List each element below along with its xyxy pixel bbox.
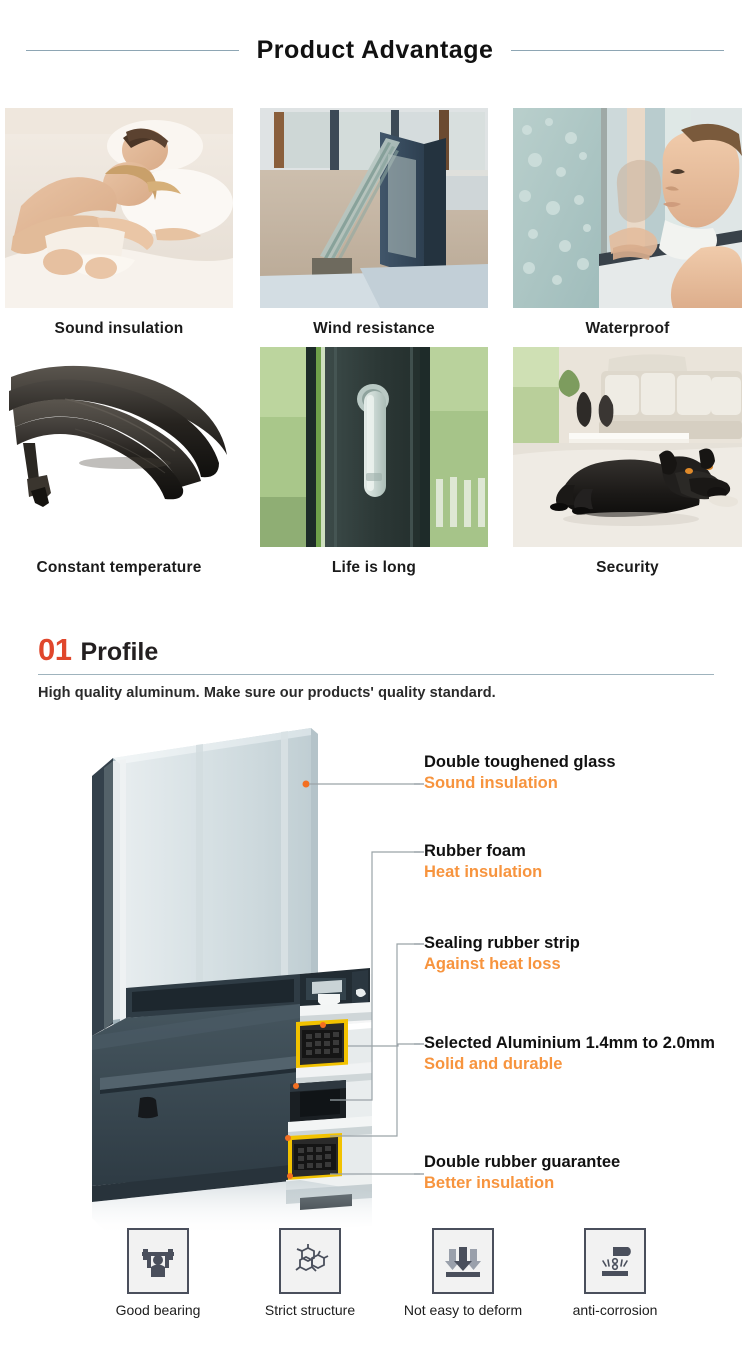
couple-sleeping-photo [5, 108, 233, 308]
advantage-card-constant-temperature[interactable]: Constant temperature [5, 347, 233, 577]
profile-divider [38, 674, 714, 675]
advantage-label: Wind resistance [260, 320, 488, 338]
callout-double-toughened-glass: Double toughened glass Sound insulation [424, 752, 616, 794]
window-handle-photo [260, 347, 488, 547]
rubber-seal-strip-photo [5, 347, 233, 547]
page-title: Product Advantage [239, 38, 512, 63]
advantage-label: Security [513, 559, 742, 577]
callout-rubber-foam: Rubber foam Heat insulation [424, 841, 542, 883]
feature-icon-row: Good bearing Strict structure [0, 1228, 750, 1328]
callout-title: Rubber foam [424, 841, 542, 862]
callout-subtitle: Solid and durable [424, 1054, 715, 1075]
feature-strict-structure[interactable]: Strict structure [240, 1228, 380, 1318]
advantage-card-security[interactable]: Security [513, 347, 742, 577]
black-dog-in-livingroom-photo [513, 347, 742, 547]
window-profile-diagram [0, 706, 750, 1236]
section-header: Product Advantage [0, 38, 750, 63]
corrosion-spray-icon [584, 1228, 646, 1294]
callout-subtitle: Against heat loss [424, 954, 580, 975]
advantage-label: Constant temperature [5, 559, 233, 577]
profile-subtitle: High quality aluminum. Make sure our pro… [38, 685, 714, 701]
feature-good-bearing[interactable]: Good bearing [88, 1228, 228, 1318]
callout-subtitle: Sound insulation [424, 773, 616, 794]
callout-title: Sealing rubber strip [424, 933, 580, 954]
callout-marker-dot [303, 781, 310, 788]
advantage-card-life-is-long[interactable]: Life is long [260, 347, 488, 577]
down-arrows-press-icon [432, 1228, 494, 1294]
child-at-rainy-window-photo [513, 108, 742, 308]
feature-not-easy-to-deform[interactable]: Not easy to deform [393, 1228, 533, 1318]
feature-label: anti-corrosion [545, 1302, 685, 1318]
advantage-grid: Sound insulation [0, 108, 750, 586]
advantage-label: Waterproof [513, 320, 742, 338]
product-advantage-page: Product Advantage [0, 0, 750, 1346]
callout-selected-aluminium: Selected Aluminium 1.4mm to 2.0mm Solid … [424, 1033, 715, 1075]
callout-title: Double rubber guarantee [424, 1152, 620, 1173]
feature-label: Not easy to deform [393, 1302, 533, 1318]
feature-anti-corrosion[interactable]: anti-corrosion [545, 1228, 685, 1318]
weight-lifting-icon [127, 1228, 189, 1294]
profile-section-header: 01 Profile High quality aluminum. Make s… [38, 634, 714, 701]
advantage-row: Constant temperature [0, 347, 750, 586]
advantage-row: Sound insulation [0, 108, 750, 347]
callout-double-rubber-guarantee: Double rubber guarantee Better insulatio… [424, 1152, 620, 1194]
advantage-label: Life is long [260, 559, 488, 577]
callout-subtitle: Better insulation [424, 1173, 620, 1194]
advantage-card-wind-resistance[interactable]: Wind resistance [260, 108, 488, 338]
advantage-label: Sound insulation [5, 320, 233, 338]
title-rule-left [26, 50, 239, 51]
advantage-card-waterproof[interactable]: Waterproof [513, 108, 742, 338]
section-title: Profile [80, 640, 158, 665]
feature-label: Strict structure [240, 1302, 380, 1318]
molecule-hexagon-icon [279, 1228, 341, 1294]
section-number: 01 [38, 634, 71, 665]
title-rule-right [511, 50, 724, 51]
callout-subtitle: Heat insulation [424, 862, 542, 883]
window-corner-section-photo [260, 108, 488, 308]
callout-title: Double toughened glass [424, 752, 616, 773]
advantage-card-sound-insulation[interactable]: Sound insulation [5, 108, 233, 338]
callout-title: Selected Aluminium 1.4mm to 2.0mm [424, 1033, 715, 1054]
callout-sealing-rubber-strip: Sealing rubber strip Against heat loss [424, 933, 580, 975]
feature-label: Good bearing [88, 1302, 228, 1318]
